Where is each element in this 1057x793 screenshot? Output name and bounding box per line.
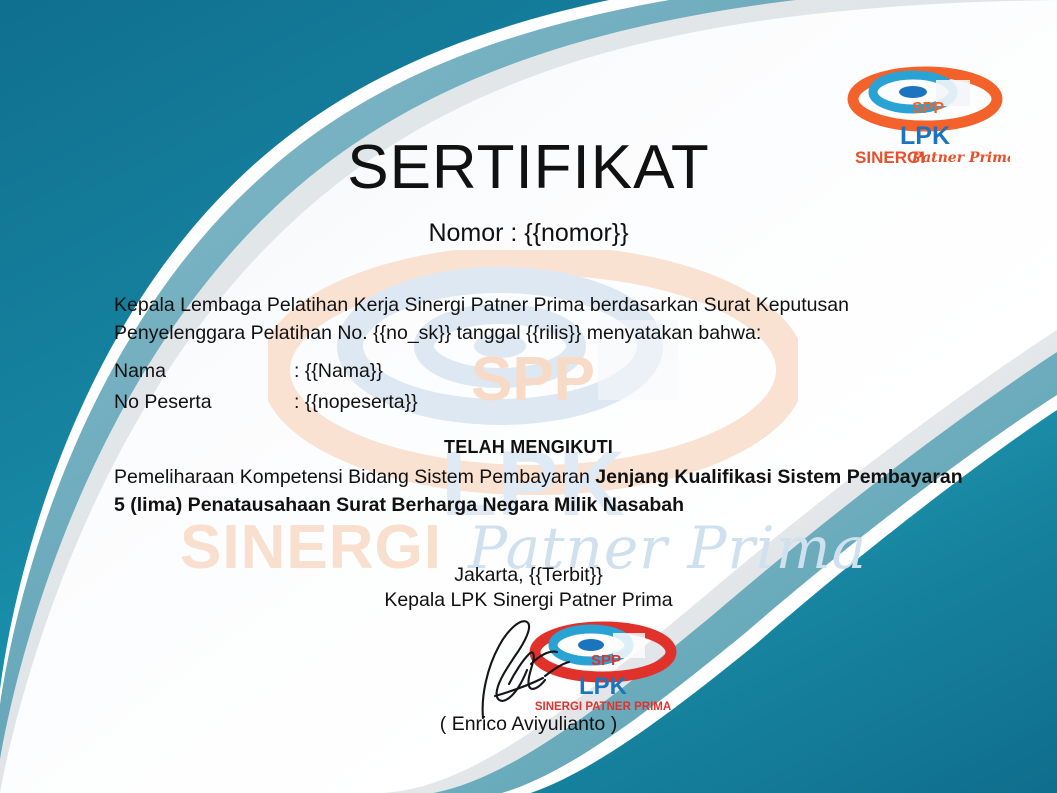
field-label-nama: Nama — [114, 360, 294, 383]
preamble-paragraph: Kepala Lembaga Pelatihan Kerja Sinergi P… — [114, 292, 974, 347]
field-row-no-peserta: No Peserta: {{nopeserta}} — [114, 391, 418, 414]
handwritten-signature — [465, 612, 585, 722]
field-row-nama: Nama: {{Nama}} — [114, 360, 383, 383]
section-heading: TELAH MENGIKUTI — [0, 437, 1057, 458]
signature-logo-spp-text: SPP — [591, 652, 621, 669]
certificate-page: SPP LPK SINERGI Patner Prima SPP LPK SIN… — [0, 0, 1057, 793]
certificate-content: SERTIFIKAT Nomor : {{nomor}} Kepala Lemb… — [0, 0, 1057, 793]
signature-block: SPP LPK SINERGI PATNER PRIMA — [455, 612, 715, 717]
certificate-number: Nomor : {{nomor}} — [0, 219, 1057, 248]
field-separator-nama: : — [294, 360, 299, 382]
signer-title: Kepala LPK Sinergi Patner Prima — [0, 589, 1057, 612]
description-paragraph: Pemeliharaan Kompetensi Bidang Sistem Pe… — [114, 464, 974, 519]
field-value-no-peserta: {{nopeserta}} — [305, 391, 418, 414]
field-value-nama: {{Nama}} — [305, 360, 383, 383]
signer-name: ( Enrico Aviyulianto ) — [0, 713, 1057, 736]
page-title: SERTIFIKAT — [0, 132, 1057, 203]
description-regular-text: Pemeliharaan Kompetensi Bidang Sistem Pe… — [114, 466, 595, 488]
signature-logo-lpk-text: LPK — [579, 673, 628, 700]
field-separator-no-peserta: : — [294, 391, 299, 413]
place-and-date: Jakarta, {{Terbit}} — [0, 564, 1057, 587]
field-label-no-peserta: No Peserta — [114, 391, 294, 414]
